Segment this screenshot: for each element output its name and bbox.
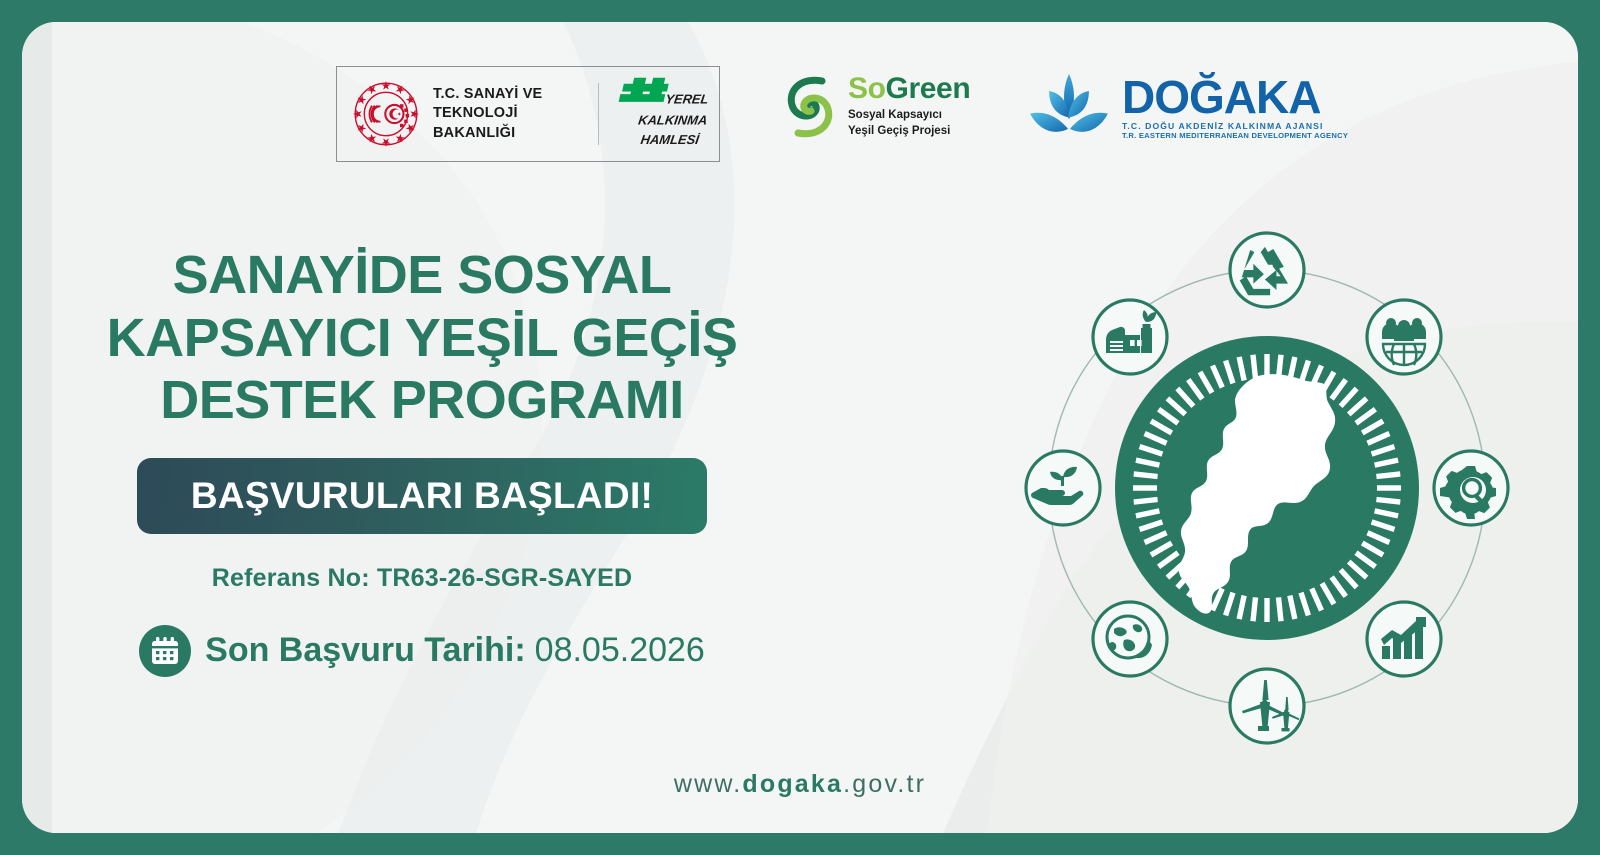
applications-open-label: BAŞVURULARI BAŞLADI! — [191, 475, 653, 517]
url-prefix: www. — [674, 770, 743, 798]
calendar-icon — [139, 625, 191, 677]
eco-transition-diagram — [1022, 218, 1512, 758]
dogaka-subtitle-tr: T.C. DOĞU AKDENİZ KALKINMA AJANSI — [1122, 121, 1348, 131]
sogreen-spiral-icon — [782, 75, 838, 139]
sogreen-name-so: So — [848, 72, 886, 105]
node-wind-turbine — [1230, 669, 1304, 743]
dogaka-name: DOĞAKA — [1122, 76, 1348, 118]
logo-divider — [598, 83, 599, 145]
node-gear-search — [1434, 451, 1508, 525]
dogaka-flower-icon — [1026, 72, 1112, 144]
website-url[interactable]: www.dogaka.gov.tr — [22, 770, 1578, 799]
ministry-logo: T.C. SANAYİ VE TEKNOLOJİ BAKANLIĞI YEREL… — [336, 66, 720, 162]
turkish-ministry-seal-icon — [351, 79, 421, 149]
page-title: SANAYİDE SOSYAL KAPSAYICI YEŞİL GEÇİŞ DE… — [22, 244, 822, 432]
svg-text:HAMLESİ: HAMLESİ — [640, 132, 702, 147]
node-green-factory — [1093, 300, 1167, 374]
deadline-value: 08.05.2026 — [535, 631, 705, 670]
applications-open-badge: BAŞVURULARI BAŞLADI! — [137, 458, 707, 534]
logo-strip: T.C. SANAYİ VE TEKNOLOJİ BAKANLIĞI YEREL… — [22, 66, 1578, 170]
url-suffix: .gov.tr — [843, 770, 926, 798]
node-hand-plant — [1026, 451, 1100, 525]
center-medallion — [1115, 336, 1419, 640]
sogreen-name-green: Green — [886, 72, 971, 105]
reference-number: Referans No: TR63-26-SGR-SAYED — [22, 564, 822, 593]
node-growth-chart — [1367, 602, 1441, 676]
svg-text:YEREL: YEREL — [664, 92, 709, 107]
dogaka-subtitle-en: T.R. EASTERN MEDITERRANEAN DEVELOPMENT A… — [1122, 131, 1348, 140]
sogreen-name: SoGreen — [848, 74, 970, 104]
dogaka-logo: DOĞAKA T.C. DOĞU AKDENİZ KALKINMA AJANSI… — [1026, 72, 1348, 144]
deadline-label: Son Başvuru Tarihi: — [205, 631, 526, 670]
ministry-logo-label: T.C. SANAYİ VE TEKNOLOJİ BAKANLIĞI — [433, 85, 584, 144]
title-line-3: DESTEK PROGRAMI — [62, 369, 782, 432]
node-recycle — [1230, 233, 1304, 307]
node-people-globe — [1367, 300, 1441, 374]
sogreen-logo: SoGreen Sosyal Kapsayıcı Yeşil Geçiş Pro… — [782, 74, 970, 139]
main-content: SANAYİDE SOSYAL KAPSAYICI YEŞİL GEÇİŞ DE… — [22, 244, 822, 677]
poster-card: T.C. SANAYİ VE TEKNOLOJİ BAKANLIĞI YEREL… — [22, 22, 1578, 833]
sogreen-subtitle: Sosyal Kapsayıcı Yeşil Geçiş Projesi — [848, 108, 970, 139]
title-line-2: KAPSAYICI YEŞİL GEÇİŞ — [62, 307, 782, 370]
node-eco-globe — [1093, 602, 1167, 676]
hashtag-yerel-kalkinma-hamlesi-icon: YEREL KALKINMA HAMLESİ — [615, 76, 719, 152]
deadline-row: Son Başvuru Tarihi: 08.05.2026 — [22, 625, 822, 677]
poster-frame: T.C. SANAYİ VE TEKNOLOJİ BAKANLIĞI YEREL… — [0, 0, 1600, 855]
svg-text:KALKINMA: KALKINMA — [637, 112, 708, 127]
url-brand: dogaka — [742, 770, 843, 798]
title-line-1: SANAYİDE SOSYAL — [62, 244, 782, 307]
